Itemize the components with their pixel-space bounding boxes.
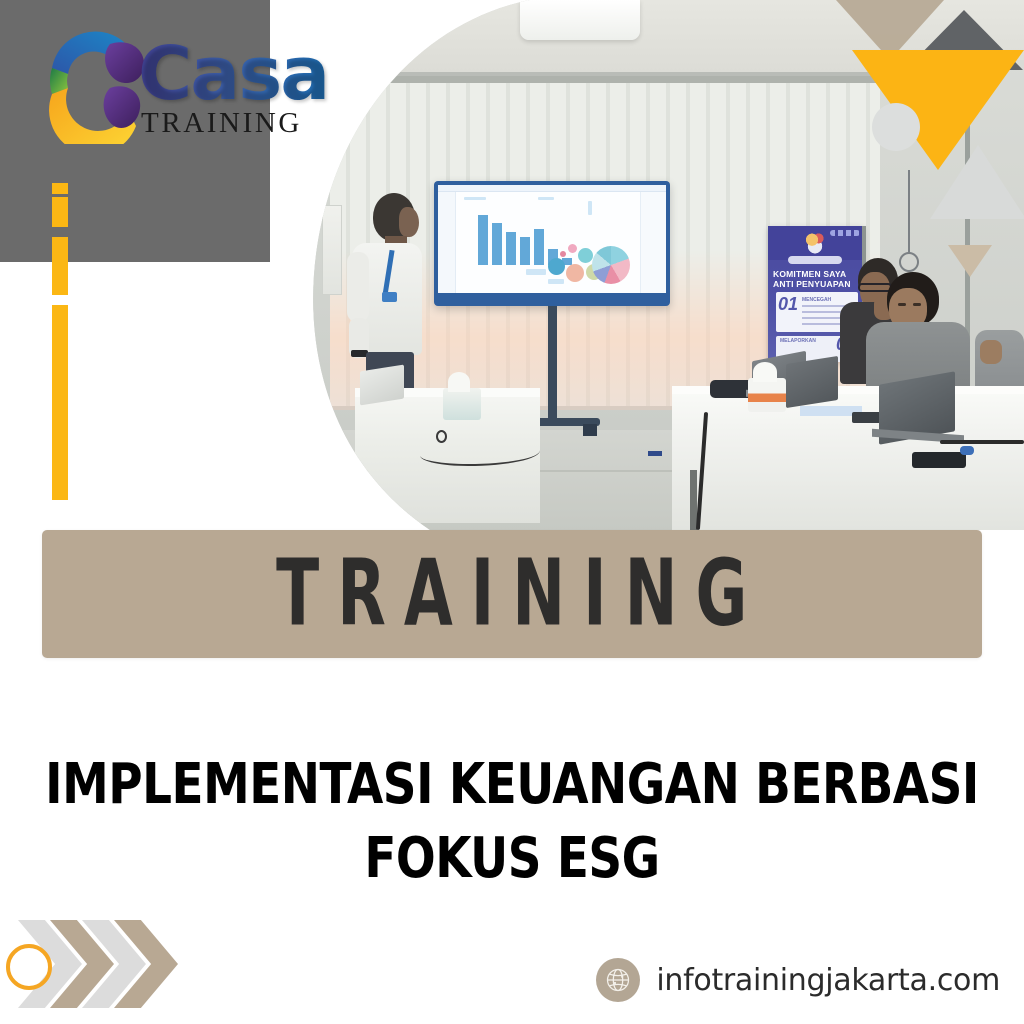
- tissue-sheet: [448, 372, 470, 392]
- yellow-dash: [52, 197, 68, 227]
- title-line-1: IMPLEMENTASI KEUANGAN BERBASI: [36, 748, 988, 822]
- participant-hand: [980, 340, 1002, 364]
- logo-name: Casa: [138, 44, 328, 105]
- presenter-sleeve: [347, 252, 369, 322]
- presenter-badge: [382, 292, 397, 302]
- rollup-illustration-icon: [800, 228, 830, 254]
- tissue-box: [748, 378, 786, 412]
- logo-wordmark: Casa TRAINING: [138, 44, 328, 140]
- training-banner-label: TRAINING: [258, 541, 765, 647]
- page-title: IMPLEMENTASI KEUANGAN BERBASI FOKUS ESG: [0, 748, 1024, 896]
- cable-loop: [436, 430, 447, 443]
- display-stand-foot: [583, 424, 597, 436]
- mouse: [960, 446, 974, 455]
- rollup-headline-line2: ANTI PENYUAPAN: [773, 279, 865, 289]
- rollup-item1-label: MENCEGAH: [802, 297, 831, 303]
- rollup-item1-number: 01: [778, 294, 798, 315]
- ring-stem: [908, 170, 910, 254]
- presentation-display: [434, 181, 670, 306]
- yellow-dash: [52, 237, 68, 295]
- dashboard-pie-chart: [592, 246, 630, 284]
- outline-ring-icon: [899, 252, 919, 272]
- globe-icon: [596, 958, 640, 1002]
- website-footer[interactable]: infotrainingjakarta.com: [596, 958, 1000, 1002]
- participant-glasses: [858, 283, 892, 292]
- rollup-dots-icon: [830, 230, 860, 236]
- website-url[interactable]: infotrainingjakarta.com: [656, 963, 1000, 998]
- display-stand-pole: [548, 306, 557, 421]
- participant-eye: [913, 303, 921, 306]
- phone: [912, 452, 966, 468]
- logo-tagline: TRAINING: [141, 107, 328, 140]
- presenter-face: [399, 207, 419, 237]
- rollup-item2-label: MELAPORKAN: [780, 338, 816, 344]
- desk-cable: [940, 440, 1024, 444]
- yellow-outline-circle-icon: [6, 944, 52, 990]
- light-gray-circle-icon: [872, 103, 920, 151]
- tissue-box: [443, 388, 481, 420]
- participant-eye: [898, 303, 906, 306]
- poster-canvas: KOMITMEN SAYA ANTI PENYUAPAN 01 MENCEGAH…: [0, 0, 1024, 1024]
- tissue-sheet: [753, 362, 777, 382]
- wall-cabinet: [322, 205, 342, 295]
- title-line-2: FOKUS ESG: [36, 822, 988, 896]
- casa-training-logo[interactable]: Casa TRAINING: [32, 16, 332, 156]
- rollup-headline-line1: KOMITMEN SAYA: [773, 269, 865, 279]
- yellow-dash: [52, 183, 68, 194]
- laptop: [360, 365, 404, 406]
- training-banner: TRAINING: [42, 530, 982, 658]
- yellow-dash: [52, 305, 68, 500]
- laptop: [786, 356, 838, 408]
- blind-rail: [330, 76, 890, 83]
- air-conditioner-icon: [520, 0, 640, 40]
